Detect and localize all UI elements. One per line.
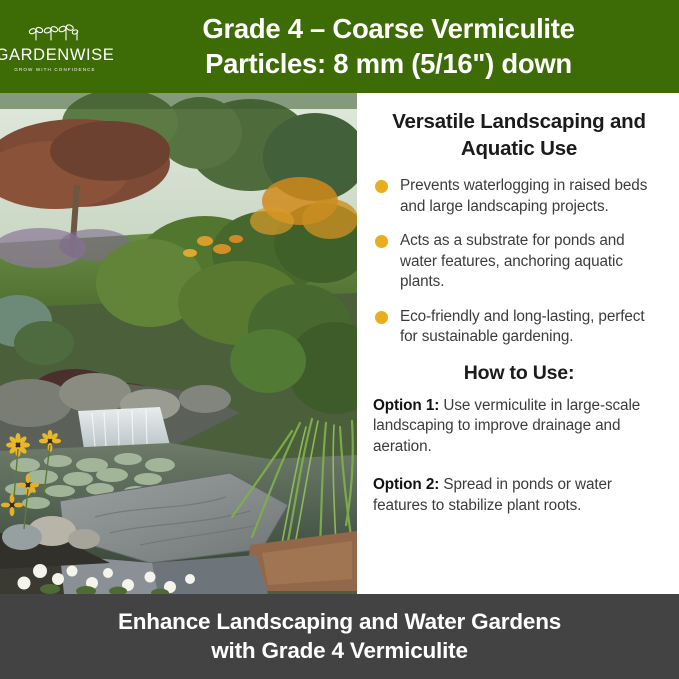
info-panel: Versatile Landscaping and Aquatic Use Pr… xyxy=(357,93,679,594)
footer-line-2: with Grade 4 Vermiculite xyxy=(211,637,468,666)
list-item: Acts as a substrate for ponds and water … xyxy=(373,231,665,292)
list-item: Prevents waterlogging in raised beds and… xyxy=(373,176,665,217)
list-item: Eco-friendly and long-lasting, perfect f… xyxy=(373,307,665,348)
header-title-line-2: Particles: 8 mm (5/16") down xyxy=(112,47,665,82)
sprout-icon xyxy=(28,24,82,46)
benefit-text: Acts as a substrate for ponds and water … xyxy=(400,231,665,292)
benefit-list: Prevents waterlogging in raised beds and… xyxy=(373,176,665,347)
option-2: Option 2: Spread in ponds or water featu… xyxy=(373,475,665,516)
header-title-group: Grade 4 – Coarse Vermiculite Particles: … xyxy=(110,12,679,81)
footer-line-1: Enhance Landscaping and Water Gardens xyxy=(118,608,561,637)
header-banner: GARDENWISE GROW WITH CONFIDENCE Grade 4 … xyxy=(0,0,679,93)
option-1: Option 1: Use vermiculite in large-scale… xyxy=(373,396,665,457)
brand-logo: GARDENWISE GROW WITH CONFIDENCE xyxy=(0,0,110,93)
bullet-dot-icon xyxy=(375,235,388,248)
option-2-label: Option 2: xyxy=(373,476,439,493)
garden-scene-illustration xyxy=(0,93,357,594)
how-to-use-heading: How to Use: xyxy=(373,362,665,385)
footer-banner: Enhance Landscaping and Water Gardens wi… xyxy=(0,594,679,679)
panel-heading: Versatile Landscaping and Aquatic Use xyxy=(373,109,665,162)
benefit-text: Eco-friendly and long-lasting, perfect f… xyxy=(400,307,665,348)
product-photo xyxy=(0,93,357,594)
product-infographic: GARDENWISE GROW WITH CONFIDENCE Grade 4 … xyxy=(0,0,679,679)
header-title-line-1: Grade 4 – Coarse Vermiculite xyxy=(112,12,665,47)
option-1-label: Option 1: xyxy=(373,397,439,414)
benefit-text: Prevents waterlogging in raised beds and… xyxy=(400,176,665,217)
brand-name: GARDENWISE xyxy=(0,47,114,64)
brand-tagline: GROW WITH CONFIDENCE xyxy=(14,67,95,72)
bullet-dot-icon xyxy=(375,311,388,324)
bullet-dot-icon xyxy=(375,180,388,193)
